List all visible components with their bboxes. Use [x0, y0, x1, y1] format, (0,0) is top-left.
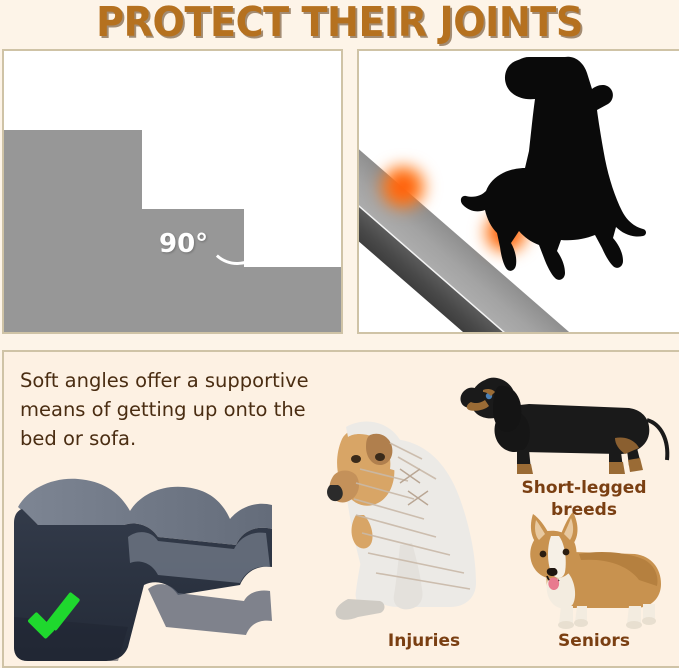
caption-injuries: Injuries: [349, 630, 499, 652]
corgi-image: [509, 510, 679, 632]
infographic-page: PROTECT THEIR JOINTS 90° Soft angles off…: [0, 0, 679, 666]
caption-line-2: breeds: [504, 499, 664, 521]
joint-glow-shoulder: [373, 163, 433, 211]
caption-seniors: Seniors: [524, 630, 664, 652]
green-check-icon: [26, 597, 80, 645]
panel-hard-stairs: 90°: [2, 49, 343, 334]
solution-description: Soft angles offer a supportive means of …: [20, 366, 325, 453]
stair-step-3: [234, 267, 341, 332]
caption-short-legged-breeds: Short-legged breeds: [504, 477, 664, 521]
panel-steep-ramp: [357, 49, 679, 334]
red-x-icon: [381, 329, 427, 334]
angle-label: 90°: [159, 229, 208, 259]
caption-line-1: Short-legged: [504, 477, 664, 499]
stair-step-1: [4, 130, 142, 332]
dog-silhouette-icon: [447, 55, 647, 290]
dachshund-image: [459, 362, 679, 484]
page-title: PROTECT THEIR JOINTS: [24, 0, 655, 46]
panel-solution: Soft angles offer a supportive means of …: [2, 350, 679, 668]
